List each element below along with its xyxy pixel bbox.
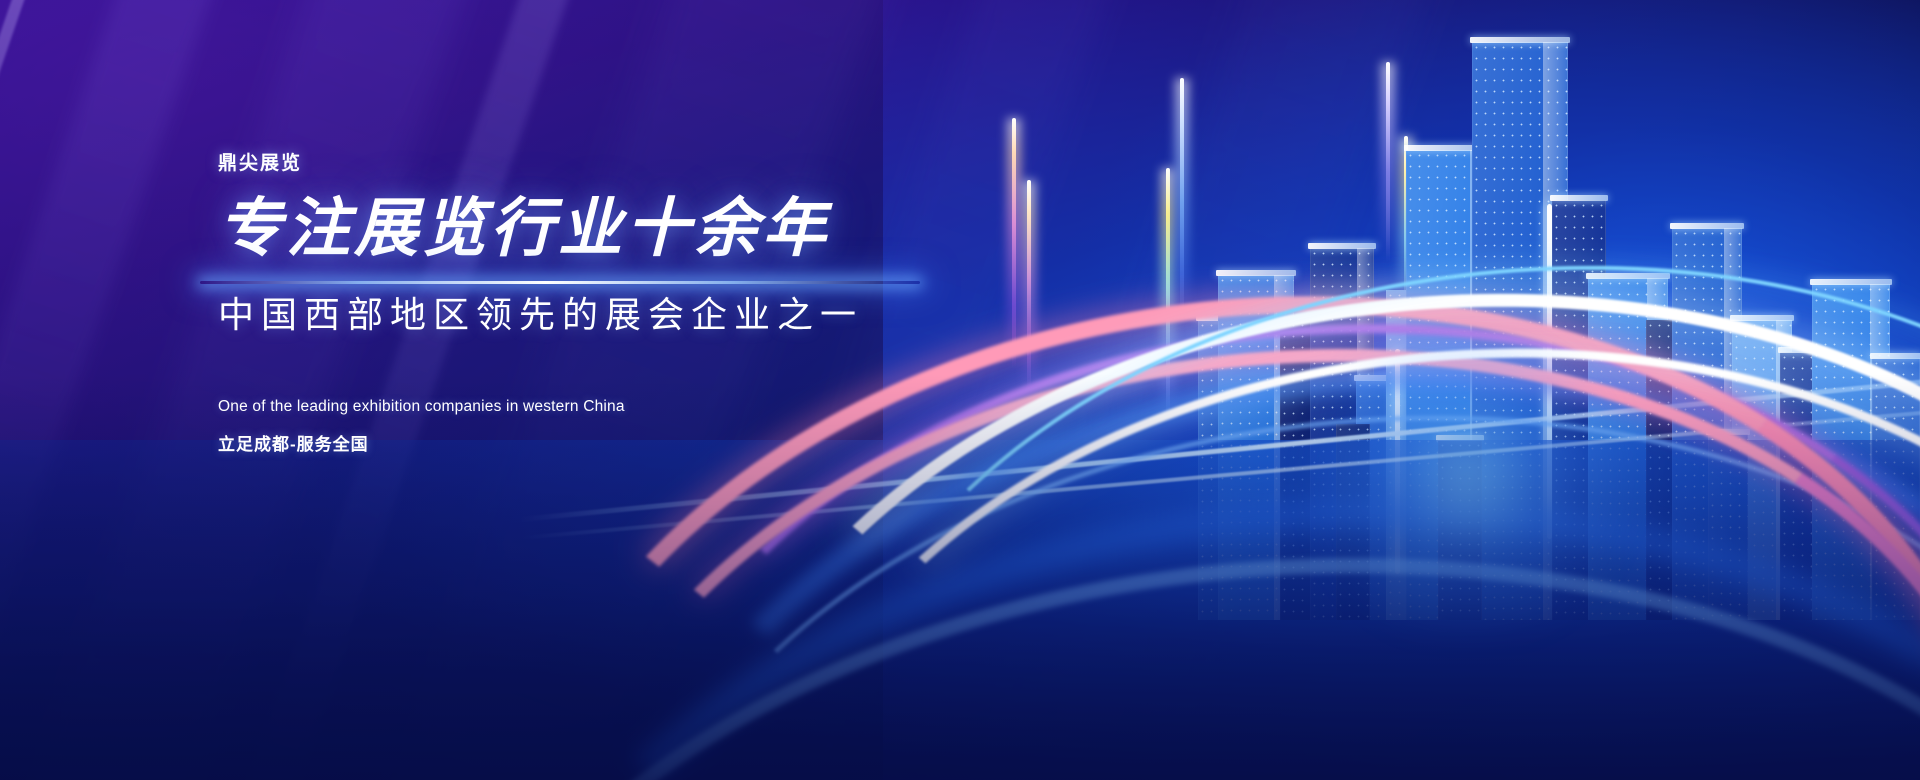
banner-text-block: 鼎尖展览 专注展览行业十余年 中国西部地区领先的展会企业之一 One of th… xyxy=(218,0,1118,780)
english-tagline: One of the leading exhibition companies … xyxy=(218,398,625,416)
subheadline: 中国西部地区领先的展会企业之一 xyxy=(218,287,863,343)
chinese-tagline: 立足成都-服务全国 xyxy=(218,430,369,455)
headline: 专注展览行业十余年 xyxy=(218,196,830,260)
promotional-banner: 鼎尖展览 专注展览行业十余年 中国西部地区领先的展会企业之一 One of th… xyxy=(0,0,1920,780)
brand-name: 鼎尖展览 xyxy=(218,148,302,175)
headline-underline-glow xyxy=(200,281,920,284)
